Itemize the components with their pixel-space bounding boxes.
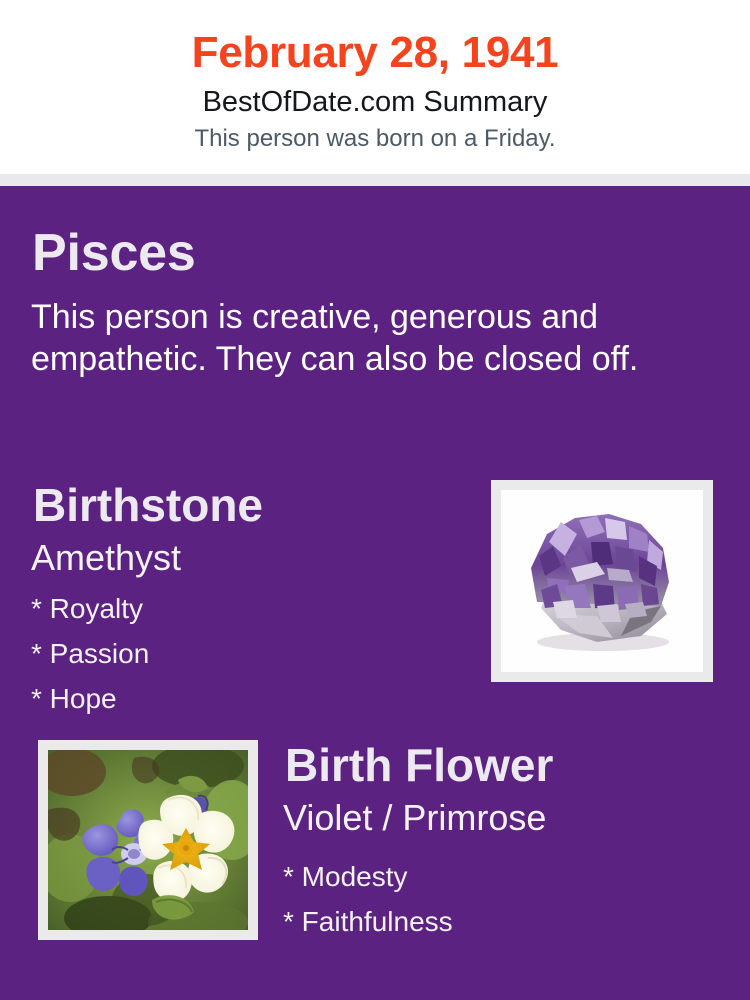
birth-flower-traits-list: * Modesty * Faithfulness — [283, 854, 453, 944]
list-item: * Hope — [31, 676, 149, 721]
zodiac-sign-title: Pisces — [32, 222, 196, 284]
list-item: * Passion — [31, 631, 149, 676]
violet-primrose-photo — [38, 740, 258, 940]
page-title-date: February 28, 1941 — [0, 0, 750, 80]
amethyst-illustration — [501, 490, 703, 672]
amethyst-photo-inner — [501, 490, 703, 672]
birth-flower-title: Birth Flower — [285, 738, 553, 792]
header-divider — [0, 174, 750, 186]
birthstone-title: Birthstone — [33, 478, 263, 532]
amethyst-crystal-photo — [491, 480, 713, 682]
birth-flower-name: Violet / Primrose — [283, 796, 546, 840]
list-item: * Royalty — [31, 586, 149, 631]
list-item: * Faithfulness — [283, 899, 453, 944]
birthstone-traits-list: * Royalty * Passion * Hope — [31, 586, 149, 721]
list-item: * Modesty — [283, 854, 453, 899]
header-panel: February 28, 1941 BestOfDate.com Summary… — [0, 0, 750, 174]
site-name: BestOfDate.com Summary — [0, 80, 750, 120]
birthstone-name: Amethyst — [31, 536, 181, 580]
summary-page: February 28, 1941 BestOfDate.com Summary… — [0, 0, 750, 1000]
zodiac-description: This person is creative, generous and em… — [31, 296, 703, 380]
violet-primrose-illustration — [48, 750, 248, 930]
flower-photo-inner — [48, 750, 248, 930]
birth-weekday-note: This person was born on a Friday. — [0, 120, 750, 154]
